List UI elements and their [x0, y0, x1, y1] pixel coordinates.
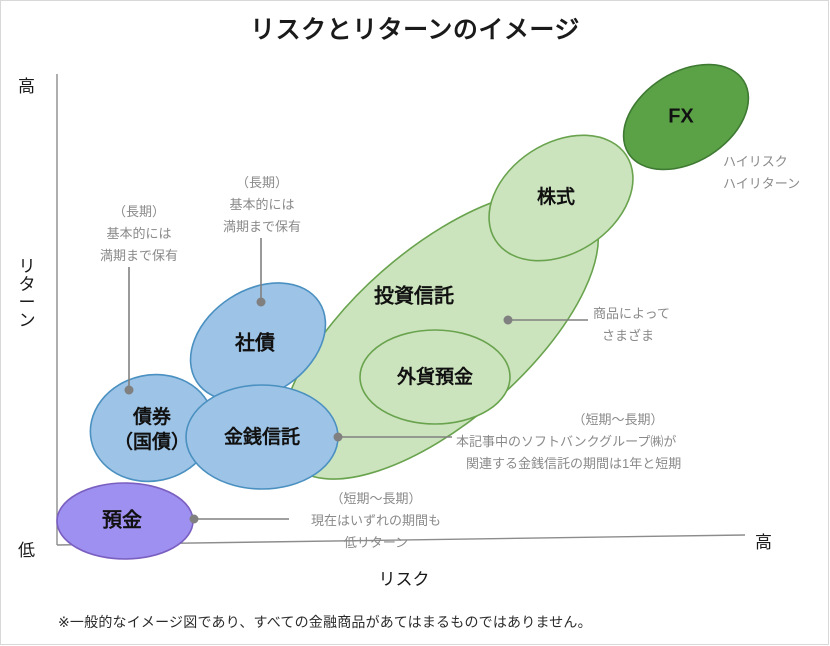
callout-investment-trust-line2: さまざま — [602, 328, 654, 343]
investment-trust-leader-dot — [504, 316, 513, 325]
callout-money-trust: （短期～長期） 本記事中のソフトバンクグループ㈱が 関連する金銭信託の期間は1年… — [456, 412, 681, 471]
callout-fx-line2: ハイリターン — [723, 176, 800, 191]
bond-label-line1: 債券 — [132, 405, 172, 428]
y-axis-high-label: 高 — [18, 77, 35, 96]
callout-deposit-line2: 現在はいずれの期間も — [311, 513, 441, 528]
money-trust-leader-dot — [334, 433, 343, 442]
callout-money-trust-line2: 本記事中のソフトバンクグループ㈱が — [456, 434, 676, 449]
fx-label: FX — [668, 105, 694, 127]
foreign-deposit-label: 外貨預金 — [396, 365, 473, 388]
callout-money-trust-line3: 関連する金銭信託の期間は1年と短期 — [466, 456, 681, 471]
callout-bond: （長期） 基本的には 満期まで保有 — [100, 204, 178, 263]
callout-bond-line1: （長期） — [113, 204, 165, 219]
bubble-foreign-currency-deposit[interactable]: 外貨預金 — [360, 330, 510, 424]
callout-corporate-bond-line2: 基本的には — [229, 197, 294, 212]
deposit-label: 預金 — [102, 507, 142, 531]
callout-investment-trust: 商品によって さまざま — [593, 306, 670, 343]
callout-deposit-line1: （短期～長期） — [330, 491, 421, 506]
bond-leader-dot — [125, 386, 134, 395]
callout-bond-line3: 満期まで保有 — [100, 248, 178, 263]
y-axis-low-label: 低 — [18, 541, 35, 560]
x-axis-label: リスク — [379, 570, 430, 589]
x-axis-high-label: 高 — [755, 533, 772, 552]
callout-fx-line1: ハイリスク — [723, 154, 788, 169]
risk-return-diagram: 高 低 高 リスク 投資信託 株式 外貨預金 FX 債券 （国債） — [0, 0, 830, 646]
bubble-money-trust[interactable]: 金銭信託 — [186, 385, 338, 489]
callout-deposit-line3: 低リターン — [344, 535, 408, 550]
bond-label-line2: （国債） — [114, 430, 190, 453]
footnote-text: ※一般的なイメージ図であり、すべての金融商品があてはまるものではありません。 — [58, 612, 592, 632]
callout-corporate-bond-line1: （長期） — [236, 175, 288, 190]
callout-corporate-bond: （長期） 基本的には 満期まで保有 — [223, 175, 301, 234]
bubble-deposit[interactable]: 預金 — [57, 483, 193, 559]
stocks-label: 株式 — [537, 185, 575, 208]
callout-fx: ハイリスク ハイリターン — [723, 154, 800, 191]
deposit-leader-dot — [190, 515, 199, 524]
callout-money-trust-line1: （短期～長期） — [572, 412, 663, 427]
callout-corporate-bond-line3: 満期まで保有 — [223, 219, 301, 234]
corporate-bond-label: 社債 — [234, 331, 275, 354]
investment-trust-label: 投資信託 — [374, 283, 454, 307]
money-trust-label: 金銭信託 — [224, 425, 300, 448]
callout-investment-trust-line1: 商品によって — [593, 306, 670, 321]
callout-bond-line2: 基本的には — [106, 226, 171, 241]
risk-return-chart-page: リスクとリターンのイメージ リ タ ー ン 高 低 高 リスク 投資信託 株式 … — [0, 0, 830, 646]
corporate-bond-leader-dot — [257, 298, 266, 307]
